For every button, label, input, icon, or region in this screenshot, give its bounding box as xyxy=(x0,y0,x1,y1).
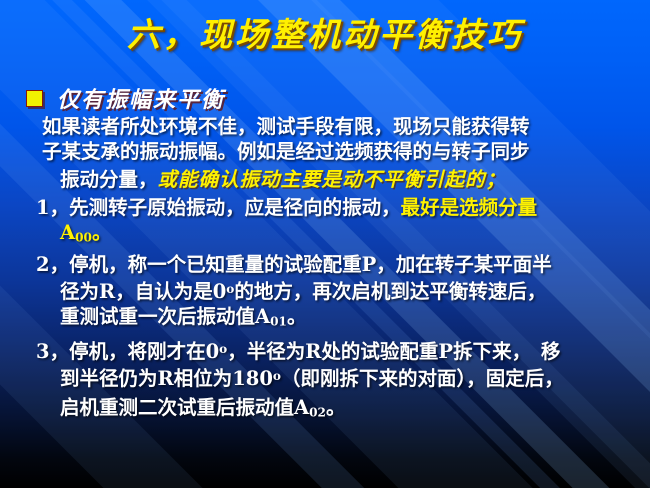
list-item-1-line-2: A00。 xyxy=(0,220,650,251)
list-item-2-line-2-a: 径为R，自认为是0 xyxy=(60,280,226,303)
presentation-slide: 六，现场整机动平衡技巧 仅有振幅来平衡 如果读者所处环境不佳，测试手段有限，现场… xyxy=(0,0,650,488)
list-item-2-line-1: 2，停机，称一个已知重量的试验配重P，加在转子某平面半 xyxy=(0,252,650,277)
list-item-3-line-2: 到半径仍为R相位为180o（即刚拆下来的对面），固定后， xyxy=(0,364,650,391)
list-item-3-line-1-b: ，半径为R处的试验配重P拆下来， 移 xyxy=(227,340,560,363)
paragraph-line-3-white: 振动分量， xyxy=(60,168,158,191)
paragraph-line-3: 振动分量，或能确认振动主要是动不平衡引起的； xyxy=(0,167,650,192)
section-heading-label: 仅有振幅来平衡 xyxy=(57,82,225,114)
list-item-3-line-1: 3，停机，将刚才在0o，半径为R处的试验配重P拆下来， 移 xyxy=(0,337,650,364)
paragraph-line-3-highlight: 或能确认振动主要是动不平衡引起的； xyxy=(158,168,507,191)
list-item-1-line-1: 1，先测转子原始振动，应是径向的振动，最好是选频分量 xyxy=(0,195,650,220)
square-bullet-icon xyxy=(26,90,43,107)
list-item-2-line-2-b: 的地方，再次启机到达平衡转速后， xyxy=(234,280,546,303)
paragraph-line-2: 子某支承的振动振幅。例如是经过选频获得的与转子同步 xyxy=(0,139,650,164)
paragraph-line-1: 如果读者所处环境不佳，测试手段有限，现场只能获得转 xyxy=(0,114,650,139)
list-item-2-line-3: 重测试重一次后振动值A01。 xyxy=(0,304,650,335)
list-item-3-number: 3， xyxy=(36,340,69,363)
list-item-3-line-3-b: 。 xyxy=(326,396,346,419)
slide-body: 如果读者所处环境不佳，测试手段有限，现场只能获得转 子某支承的振动振幅。例如是经… xyxy=(0,114,650,425)
list-item-2-line-3-a: 重测试重一次后振动值A xyxy=(60,305,270,328)
list-item-2-number: 2， xyxy=(36,253,69,276)
list-item-2-text: 停机，称一个已知重量的试验配重P，加在转子某平面半 xyxy=(69,253,552,276)
list-item-3-line-2-a: 到半径仍为R相位为180 xyxy=(60,368,273,391)
list-item-1-text-white: 先测转子原始振动，应是径向的振动， xyxy=(69,196,401,219)
list-item-1-number: 1， xyxy=(36,196,69,219)
symbol-base: A xyxy=(60,221,75,244)
symbol-tail: 。 xyxy=(92,221,112,244)
list-item-2-line-2: 径为R，自认为是0o的地方，再次启机到达平衡转速后， xyxy=(0,277,650,304)
list-item-3-line-3: 启机重测二次试重后振动值A02。 xyxy=(0,395,650,426)
list-item-1-text-highlight: 最好是选频分量 xyxy=(401,196,538,219)
page-title: 六，现场整机动平衡技巧 xyxy=(127,8,523,56)
list-item-1-symbol-a00: A00。 xyxy=(60,221,111,244)
list-item-3-line-1-a: 停机，将刚才在0 xyxy=(69,340,219,363)
list-item-3-line-3-a: 启机重测二次试重后振动值A xyxy=(60,396,309,419)
section-heading: 仅有振幅来平衡 xyxy=(26,82,225,114)
symbol-subscript-01: 01 xyxy=(270,314,287,328)
symbol-subscript-02: 02 xyxy=(309,405,326,419)
slide-title-bar: 六，现场整机动平衡技巧 xyxy=(0,8,650,56)
symbol-subscript: 00 xyxy=(75,231,92,245)
degree-symbol: o xyxy=(273,369,281,383)
degree-symbol: o xyxy=(219,342,227,356)
list-item-2-line-3-b: 。 xyxy=(287,305,307,328)
list-item-3-line-2-b: （即刚拆下来的对面），固定后， xyxy=(281,368,564,391)
